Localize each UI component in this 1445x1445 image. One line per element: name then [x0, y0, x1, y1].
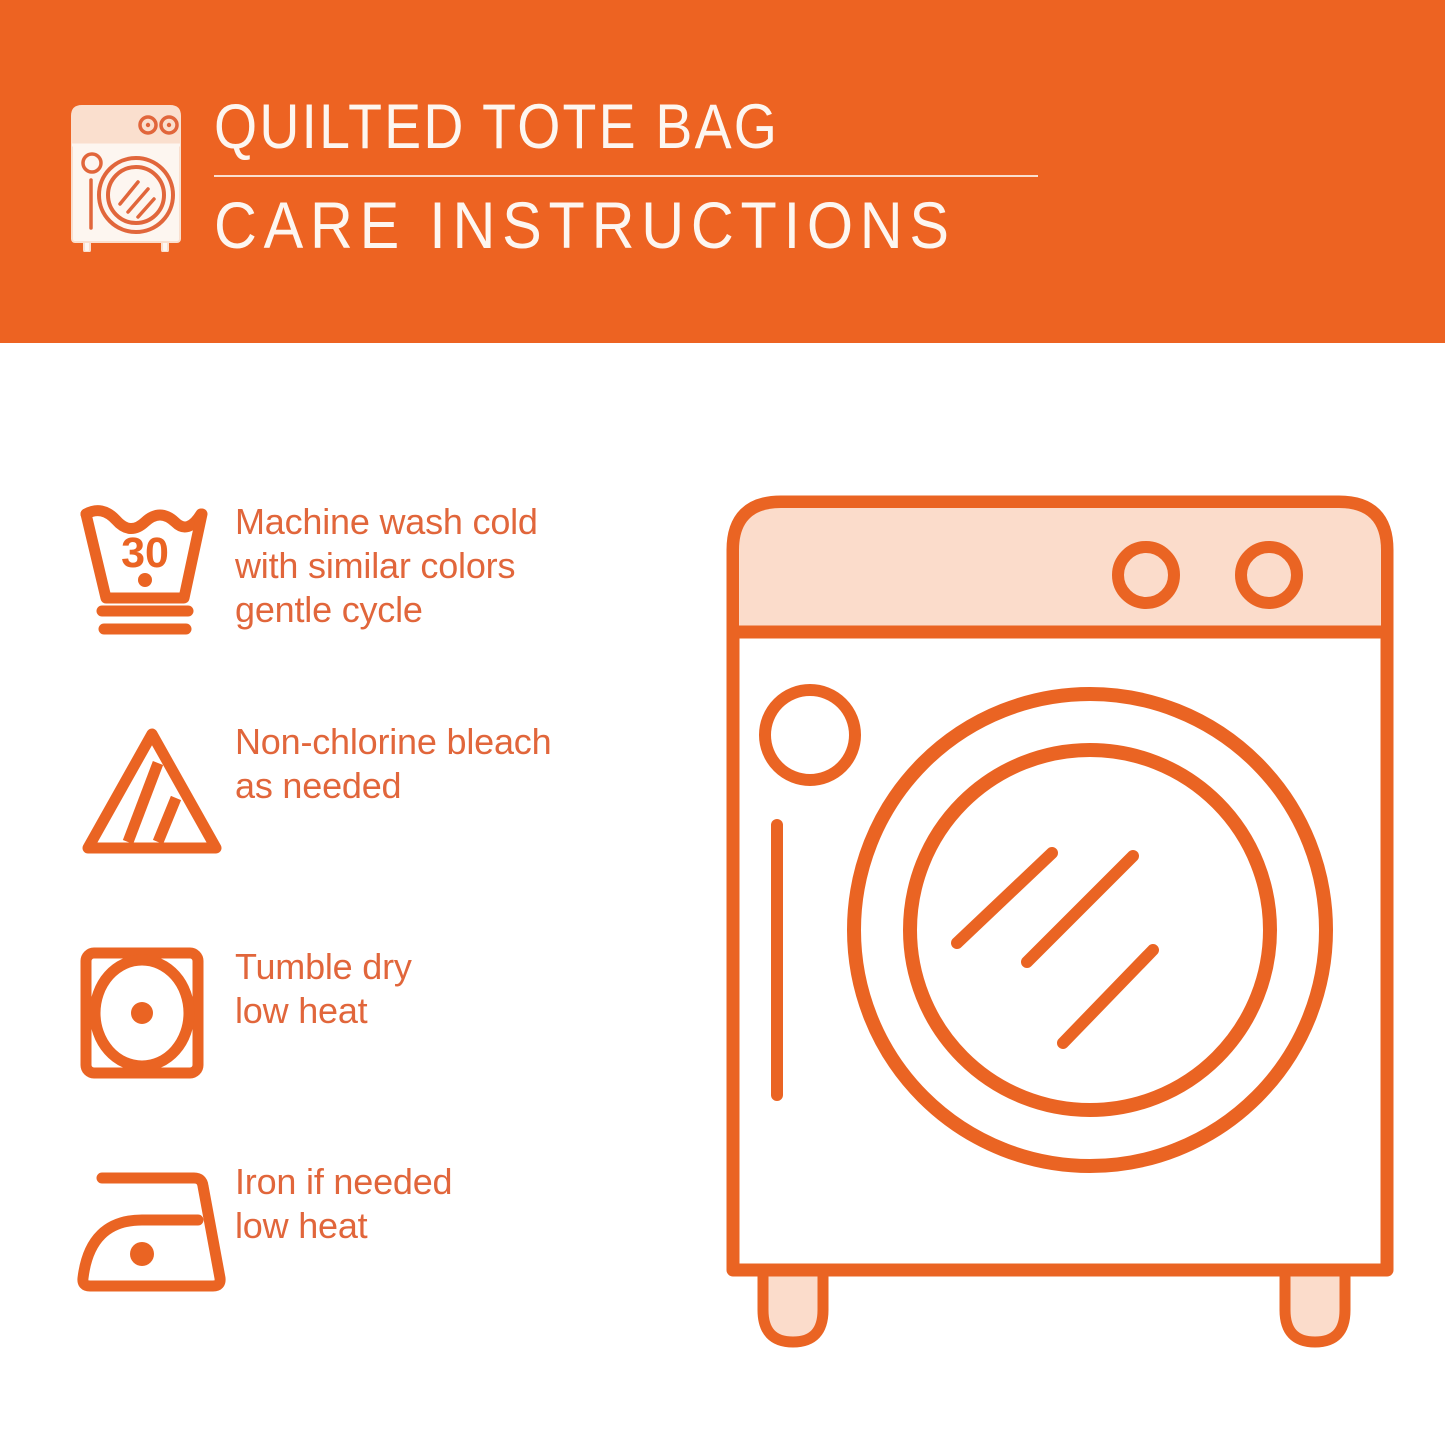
care-line: Non-chlorine bleach	[235, 720, 551, 764]
care-label-machine-wash: Machine wash cold with similar colors ge…	[235, 498, 538, 632]
care-line: low heat	[235, 1204, 452, 1248]
care-line: low heat	[235, 989, 412, 1033]
header-band: QUILTED TOTE BAG CARE INSTRUCTIONS	[0, 0, 1445, 343]
tumble-dry-icon	[60, 943, 235, 1083]
wash-temperature-label: 30	[121, 529, 169, 577]
care-row-machine-wash: 30 Machine wash cold with similar colors…	[60, 498, 680, 643]
care-line: Iron if needed	[235, 1160, 452, 1204]
care-label-iron: Iron if needed low heat	[235, 1158, 452, 1248]
page-title: QUILTED TOTE BAG	[214, 92, 953, 162]
care-line: Machine wash cold	[235, 500, 538, 544]
care-line: as needed	[235, 764, 551, 808]
header-content: QUILTED TOTE BAG CARE INSTRUCTIONS	[62, 92, 1062, 262]
header-text-block: QUILTED TOTE BAG CARE INSTRUCTIONS	[214, 92, 1054, 261]
care-row-bleach: Non-chlorine bleach as needed	[60, 718, 680, 863]
care-line: Tumble dry	[235, 945, 412, 989]
care-row-iron: Iron if needed low heat	[60, 1158, 680, 1298]
washing-machine-icon	[62, 100, 190, 252]
care-instructions-infographic: QUILTED TOTE BAG CARE INSTRUCTIONS 30	[0, 0, 1445, 1445]
care-label-bleach: Non-chlorine bleach as needed	[235, 718, 551, 808]
title-divider	[214, 175, 1038, 177]
care-line: with similar colors	[235, 544, 538, 588]
care-line: gentle cycle	[235, 588, 538, 632]
care-row-tumble-dry: Tumble dry low heat	[60, 943, 680, 1083]
control-panel	[739, 508, 1381, 630]
wash-tub-30-icon: 30	[60, 498, 235, 643]
page-subtitle: CARE INSTRUCTIONS	[214, 189, 970, 261]
washing-machine-illustration	[715, 470, 1405, 1370]
care-instructions-list: 30 Machine wash cold with similar colors…	[0, 343, 700, 1445]
iron-icon	[60, 1158, 235, 1298]
bleach-triangle-icon	[60, 718, 235, 863]
care-label-tumble-dry: Tumble dry low heat	[235, 943, 412, 1033]
